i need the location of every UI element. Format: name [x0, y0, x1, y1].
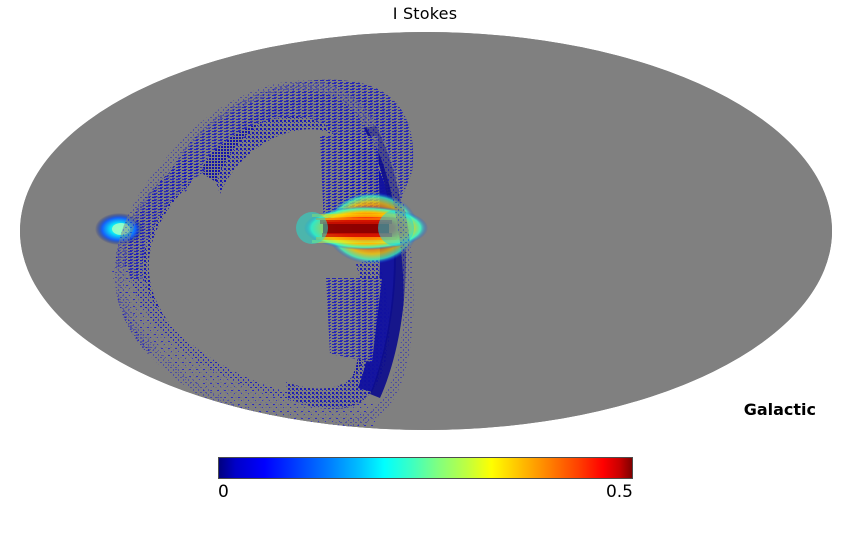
page-title: I Stokes — [0, 3, 850, 25]
colorbar-min-label: 0 — [218, 481, 229, 503]
sky-data-layer — [20, 32, 832, 430]
mollweide-projection — [20, 32, 832, 430]
colorbar-max-label: 0.5 — [606, 481, 633, 503]
colorbar-group: 0 0.5 — [218, 457, 633, 505]
sky-ellipse — [20, 32, 832, 430]
colorbar-ticks: 0 0.5 — [218, 481, 633, 505]
coordinate-system-label: Galactic — [744, 400, 816, 419]
colorbar — [218, 457, 633, 479]
sky-map-figure: I Stokes — [0, 0, 850, 540]
